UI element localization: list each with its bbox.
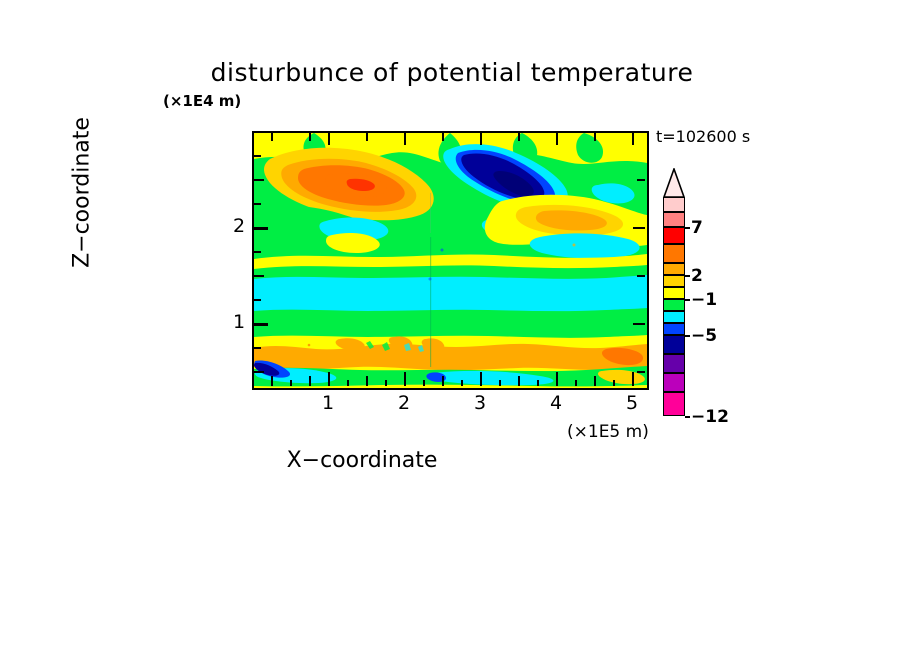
colorbar-band-6 bbox=[663, 287, 685, 299]
colorbar-label-2: 2 bbox=[691, 266, 703, 286]
x-minor-tick bbox=[423, 380, 425, 386]
colorbar-tick-m1 bbox=[685, 299, 690, 301]
x-axis-title: X−coordinate bbox=[0, 448, 904, 473]
colorbar-band-10 bbox=[663, 335, 685, 354]
y-right-tick bbox=[637, 371, 645, 373]
y-minor-tick bbox=[254, 347, 261, 349]
y-tick-label-1: 1 bbox=[233, 311, 245, 333]
x-top-tick bbox=[556, 133, 558, 145]
x-minor-tick bbox=[575, 380, 577, 386]
colorbar-label-m5: −5 bbox=[691, 326, 717, 346]
x-top-tick bbox=[366, 133, 368, 141]
colorbar-band-9 bbox=[663, 323, 685, 335]
colorbar-tick-7 bbox=[685, 227, 690, 229]
x-top-tick bbox=[404, 133, 406, 145]
colorbar-band-11 bbox=[663, 354, 685, 373]
y-minor-tick bbox=[254, 179, 264, 181]
x-tick-label-4: 4 bbox=[550, 392, 562, 414]
y-axis-title: Z−coordinate bbox=[70, 63, 95, 323]
colorbar-band-12 bbox=[663, 373, 685, 392]
y-minor-tick bbox=[254, 251, 261, 253]
x-minor-tick bbox=[385, 380, 387, 386]
colorbar-tick-m12 bbox=[685, 416, 690, 418]
x-axis-title-text: X−coordinate bbox=[287, 448, 438, 473]
y-tick-label-2: 2 bbox=[233, 215, 245, 237]
x-minor-tick bbox=[613, 380, 615, 386]
x-top-tick bbox=[328, 133, 330, 145]
x-major-tick bbox=[632, 372, 634, 386]
x-top-tick bbox=[309, 133, 311, 141]
x-axis-unit-label: (×1E5 m) bbox=[567, 422, 649, 442]
x-top-tick bbox=[442, 133, 444, 141]
y-minor-tick bbox=[254, 299, 261, 301]
colorbar-label-7: 7 bbox=[691, 218, 703, 238]
x-minor-tick bbox=[518, 376, 520, 386]
colorbar-band-0 bbox=[663, 197, 685, 212]
contour-field-svg bbox=[254, 133, 647, 388]
colorbar-tick-2 bbox=[685, 275, 690, 277]
x-major-tick bbox=[328, 372, 330, 386]
x-minor-tick bbox=[347, 380, 349, 386]
x-major-tick bbox=[556, 372, 558, 386]
colorbar-band-8 bbox=[663, 311, 685, 323]
x-major-tick bbox=[404, 372, 406, 386]
x-minor-tick bbox=[499, 380, 501, 386]
x-top-tick bbox=[518, 133, 520, 141]
y-major-tick bbox=[254, 227, 268, 230]
x-top-tick bbox=[632, 133, 634, 145]
x-minor-tick bbox=[537, 380, 539, 386]
figure-canvas: disturbunce of potential temperature (×1… bbox=[0, 0, 904, 654]
y-major-tick bbox=[254, 323, 268, 326]
contour-plot-area bbox=[252, 131, 649, 390]
x-minor-tick bbox=[309, 376, 311, 386]
y-right-tick bbox=[637, 179, 645, 181]
colorbar-extend-arrow-icon bbox=[663, 168, 685, 198]
colorbar-band-3 bbox=[663, 244, 685, 263]
colorbar-tick-m5 bbox=[685, 335, 690, 337]
colorbar-label-m1: −1 bbox=[691, 290, 717, 310]
colorbar-band-7 bbox=[663, 299, 685, 311]
x-tick-label-2: 2 bbox=[398, 392, 410, 414]
y-minor-tick bbox=[254, 371, 264, 373]
colorbar-label-m12: −12 bbox=[691, 407, 729, 427]
y-minor-tick bbox=[254, 203, 261, 205]
x-minor-tick bbox=[271, 376, 273, 386]
colorbar-band-4 bbox=[663, 263, 685, 275]
y-right-tick bbox=[633, 227, 645, 229]
x-top-tick bbox=[480, 133, 482, 145]
x-minor-tick bbox=[461, 380, 463, 386]
y-right-tick bbox=[637, 275, 645, 277]
x-tick-label-5: 5 bbox=[626, 392, 638, 414]
contour-field bbox=[254, 133, 647, 388]
colorbar-band-1 bbox=[663, 212, 685, 227]
x-minor-tick bbox=[442, 376, 444, 386]
timestamp-annotation: t=102600 s bbox=[656, 127, 750, 146]
y-right-tick bbox=[633, 323, 645, 325]
x-major-tick bbox=[480, 372, 482, 386]
x-minor-tick bbox=[290, 380, 292, 386]
x-minor-tick bbox=[594, 376, 596, 386]
x-tick-label-1: 1 bbox=[322, 392, 334, 414]
colorbar-band-2 bbox=[663, 227, 685, 244]
x-minor-tick bbox=[366, 376, 368, 386]
y-minor-tick bbox=[254, 275, 264, 277]
colorbar: 7 2 −1 −5 −12 bbox=[663, 168, 723, 398]
x-top-tick bbox=[271, 133, 273, 141]
colorbar-band-13 bbox=[663, 392, 685, 416]
x-top-tick bbox=[594, 133, 596, 141]
x-tick-label-3: 3 bbox=[474, 392, 486, 414]
z-axis-unit-label: (×1E4 m) bbox=[163, 92, 241, 110]
y-minor-tick bbox=[254, 155, 261, 157]
page-title: disturbunce of potential temperature bbox=[0, 58, 904, 87]
colorbar-band-5 bbox=[663, 275, 685, 287]
